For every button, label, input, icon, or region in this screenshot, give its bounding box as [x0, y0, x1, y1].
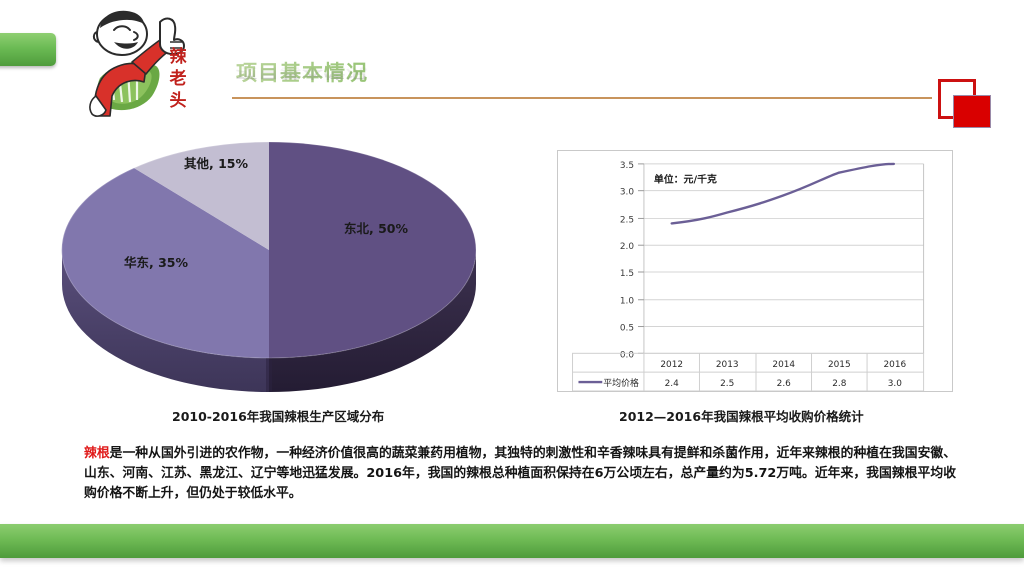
svg-text:1.0: 1.0 [620, 297, 634, 307]
body-paragraph-text: 是一种从国外引进的农作物，一种经济价值很高的蔬菜兼药用植物，其独特的刺激性和辛香… [84, 446, 956, 501]
table-value-2013: 2.5 [720, 379, 734, 389]
svg-text:1.5: 1.5 [620, 269, 634, 279]
table-col-2014: 2014 [772, 360, 795, 370]
brand-logo: 辣 老 头 [74, 4, 198, 122]
svg-text:2.5: 2.5 [620, 215, 634, 225]
pie-label-other: 其他, 15% [184, 156, 248, 171]
pie-chart: 东北, 50% 华东, 35% 其他, 15% [44, 136, 514, 398]
svg-text:3.5: 3.5 [620, 161, 634, 171]
svg-text:老: 老 [169, 68, 187, 89]
svg-text:2.0: 2.0 [620, 242, 634, 252]
table-value-2014: 2.6 [777, 379, 791, 389]
line-chart-caption: 2012—2016年我国辣根平均收购价格统计 [619, 406, 864, 425]
pie-label-northeast: 东北, 50% [344, 221, 408, 236]
pie-label-eastchina: 华东, 35% [124, 255, 188, 270]
svg-text:0.5: 0.5 [620, 324, 634, 334]
pie-chart-caption: 2010-2016年我国辣根生产区域分布 [172, 406, 384, 425]
table-col-2012: 2012 [660, 360, 683, 370]
chart-gridlines [644, 164, 924, 353]
logo-calligraphy-text: 辣 老 头 [169, 46, 188, 111]
chart-y-ticks: 3.5 3.0 2.5 2.0 1.5 1.0 0.5 0.0 [620, 161, 644, 360]
page-title-text: 项目基本情况 [236, 60, 636, 86]
table-col-2016: 2016 [883, 360, 906, 370]
line-chart: 3.5 3.0 2.5 2.0 1.5 1.0 0.5 0.0 单位：元/千克 [557, 150, 953, 392]
header-divider [232, 97, 932, 99]
chart-series-line [672, 164, 894, 224]
svg-text:辣: 辣 [170, 46, 188, 67]
table-col-2013: 2013 [716, 360, 739, 370]
svg-text:3.0: 3.0 [620, 188, 634, 198]
table-value-2016: 3.0 [888, 379, 902, 389]
page-title: 项目基本情况 项目基本情况 [236, 60, 636, 106]
chart-unit-note: 单位：元/千克 [654, 173, 717, 186]
svg-text:0.0: 0.0 [620, 350, 634, 360]
body-paragraph: 辣根是一种从国外引进的农作物，一种经济价值很高的蔬菜兼药用植物，其独特的刺激性和… [84, 444, 956, 504]
decor-green-tab [0, 33, 56, 66]
svg-text:头: 头 [170, 91, 187, 111]
table-legend-label: 平均价格 [603, 377, 639, 389]
table-col-2015: 2015 [828, 360, 851, 370]
body-keyword: 辣根 [84, 446, 110, 461]
table-value-2012: 2.4 [665, 379, 679, 389]
table-value-2015: 2.8 [832, 379, 846, 389]
decor-bottom-bar [0, 524, 1024, 558]
decor-square-filled [953, 95, 991, 128]
